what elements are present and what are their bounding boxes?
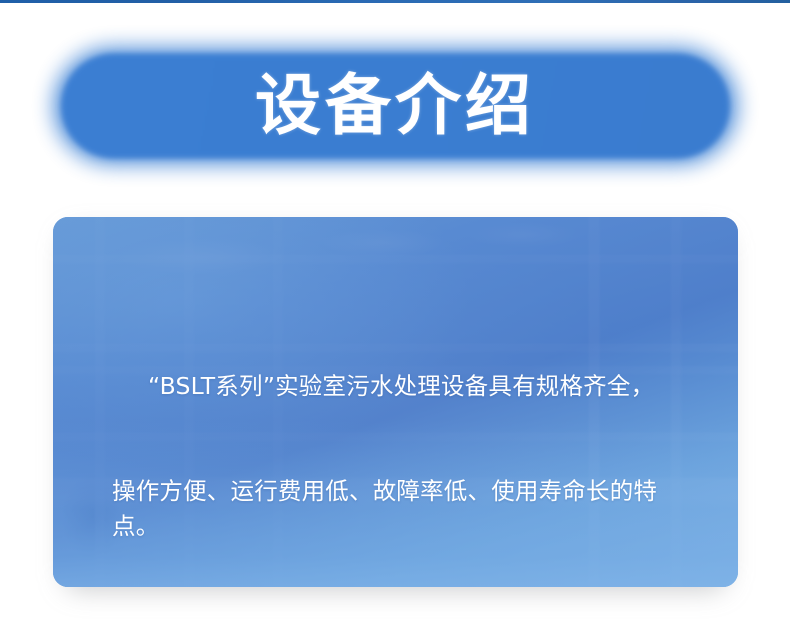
content-card: “BSLT系列”实验室污水处理设备具有规格齐全， 操作方便、运行费用低、故障率低… (53, 217, 738, 587)
description-paragraph: “BSLT系列”实验室污水处理设备具有规格齐全， 操作方便、运行费用低、故障率低… (112, 299, 687, 587)
top-divider-rule (0, 0, 790, 3)
page-title: 设备介绍 (0, 54, 790, 158)
section-title-banner: 设备介绍 (0, 40, 790, 172)
description-line: “BSLT系列”实验室污水处理设备具有规格齐全， (112, 369, 687, 404)
description-line: 操作方便、运行费用低、故障率低、使用寿命长的特点。 (112, 474, 687, 544)
